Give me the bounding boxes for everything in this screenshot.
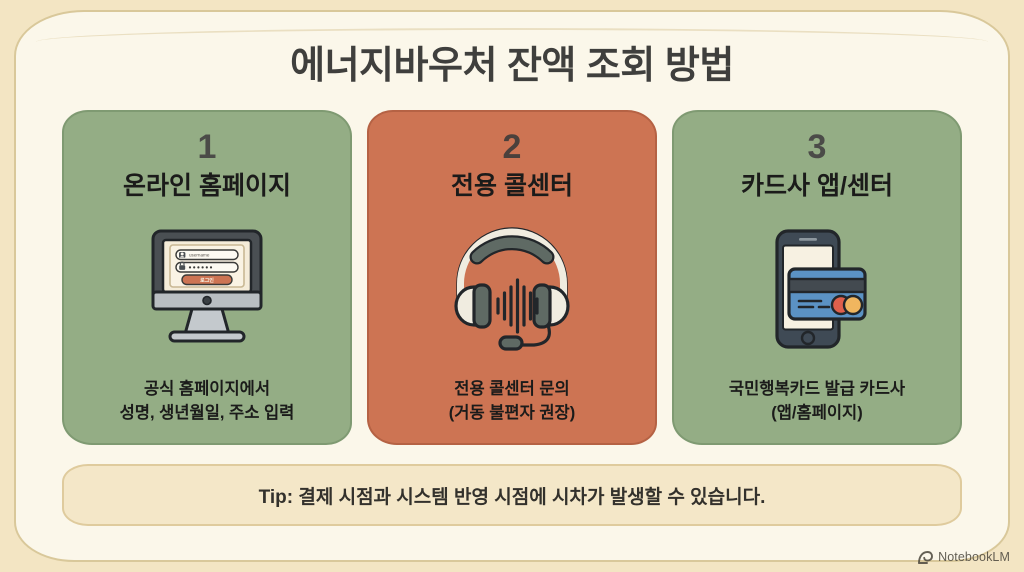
step-number-1: 1 [198,130,217,164]
infographic-poster: 에너지바우처 잔액 조회 방법 1 온라인 홈페이지 [0,0,1024,572]
step-card-2: 2 전용 콜센터 [367,110,657,445]
headset-icon [444,227,580,351]
credit-card-icon [789,269,865,319]
watermark-label: NotebookLM [938,550,1010,564]
step-title-3: 카드사 앱/센터 [741,172,893,201]
step-caption-1: 공식 홈페이지에서 성명, 생년월일, 주소 입력 [110,378,305,425]
tip-text: Tip: 결제 시점과 시스템 반영 시점에 시차가 발생할 수 있습니다. [259,482,766,509]
step-card-3: 3 카드사 앱/센터 [672,110,962,445]
page-title: 에너지바우처 잔액 조회 방법 [0,34,1024,89]
desktop-monitor-login-icon: username 로그인 [132,228,282,350]
step-number-2: 2 [503,130,522,164]
smartphone-credit-card-icon [755,227,879,351]
steps-container: 1 온라인 홈페이지 username [62,110,962,445]
mic-capsule [500,337,522,349]
step-illustration-3 [674,201,960,378]
notebooklm-logo-icon [918,551,933,564]
step-number-3: 3 [808,130,827,164]
step-caption-3: 국민행복카드 발급 카드사 (앱/홈페이지) [719,378,915,425]
step-caption-2: 전용 콜센터 문의 (거동 불편자 권장) [439,378,585,425]
login-button-text: 로그인 [200,277,214,284]
username-placeholder-text: username [189,253,210,258]
step-card-1: 1 온라인 홈페이지 username [62,110,352,445]
watermark: NotebookLM [918,550,1010,564]
step-illustration-1: username 로그인 [64,201,350,378]
waveform-bars [498,280,537,332]
tip-bar: Tip: 결제 시점과 시스템 반영 시점에 시차가 발생할 수 있습니다. [62,464,962,526]
step-title-2: 전용 콜센터 [451,172,573,201]
step-title-1: 온라인 홈페이지 [123,172,291,201]
step-illustration-2 [369,201,655,378]
